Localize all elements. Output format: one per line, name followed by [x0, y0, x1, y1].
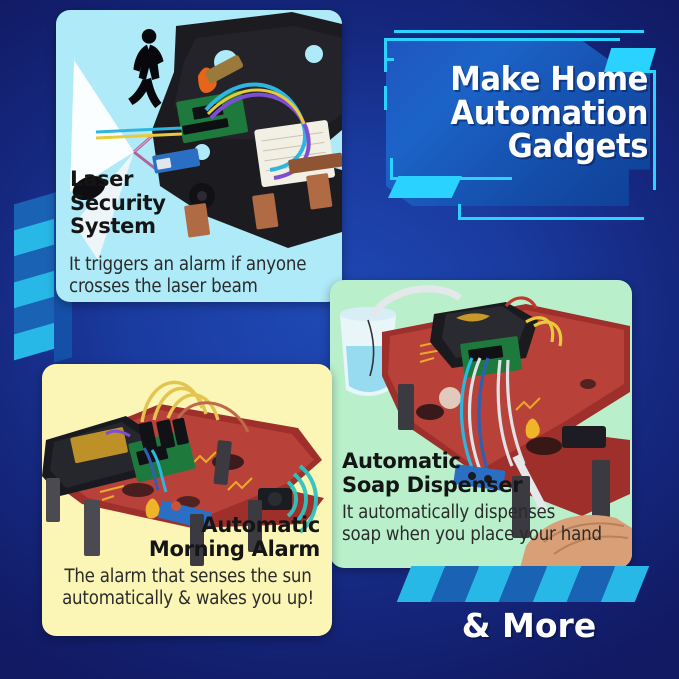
laser-card-title: Laser Security System: [70, 168, 166, 239]
plate-accent-right: [653, 70, 656, 190]
footer-decor-stripes: [404, 566, 654, 602]
plate-accent-notch: [384, 58, 394, 61]
soap-card-title: Automatic Soap Dispenser: [342, 450, 522, 497]
headline-text: Make Home Automation Gadgets: [408, 62, 648, 163]
laser-card-subtitle: It triggers an alarm if anyone crosses t…: [69, 254, 353, 298]
plate-accent-top: [394, 30, 644, 33]
more-label: & More: [404, 606, 654, 645]
headline-line-1: Make Home: [408, 62, 648, 96]
plate-accent-top2: [386, 38, 620, 41]
plate-accent-left: [384, 86, 387, 110]
alarm-card-title: Automatic Morning Alarm: [42, 514, 320, 561]
plate-accent-bottom: [458, 217, 644, 220]
soap-card-subtitle: It automatically dispenses soap when you…: [342, 502, 634, 546]
plate-accent-bottomleft: [458, 204, 461, 220]
headline-line-3: Gadgets: [408, 129, 648, 163]
plate-chip-bottom: [388, 176, 462, 198]
alarm-card-subtitle: The alarm that senses the sun automatica…: [46, 566, 330, 610]
plate-accent-topleft: [384, 38, 387, 72]
promo-banner: Make Home Automation Gadgets: [0, 0, 679, 679]
headline-plate: Make Home Automation Gadgets: [372, 26, 660, 222]
headline-line-2: Automation: [408, 96, 648, 130]
